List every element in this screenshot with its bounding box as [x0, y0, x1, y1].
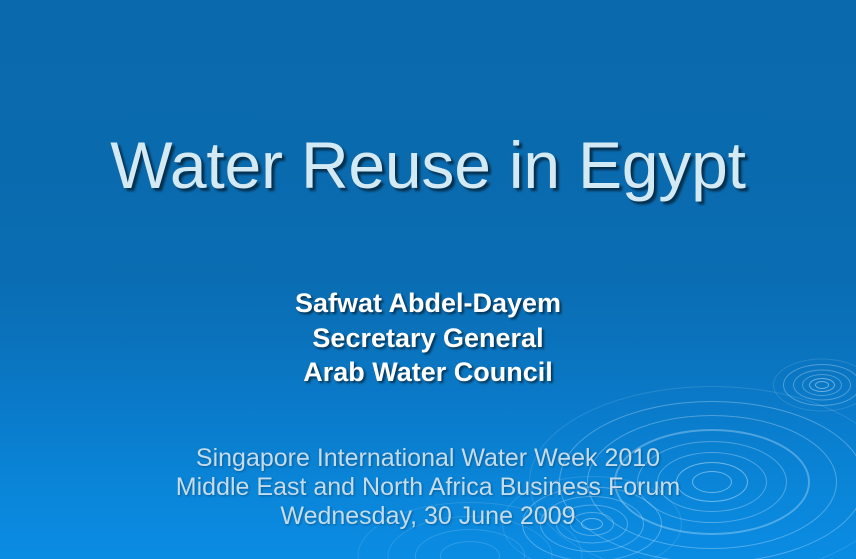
- slide-title: Water Reuse in Egypt: [0, 131, 856, 200]
- slide-content: Water Reuse in Egypt Safwat Abdel-Dayem …: [0, 0, 856, 559]
- presentation-title-slide: Water Reuse in Egypt Safwat Abdel-Dayem …: [0, 0, 856, 559]
- event-forum: Middle East and North Africa Business Fo…: [0, 473, 856, 502]
- event-block: Singapore International Water Week 2010 …: [0, 444, 856, 531]
- event-date: Wednesday, 30 June 2009: [0, 502, 856, 531]
- event-name: Singapore International Water Week 2010: [0, 444, 856, 473]
- author-name: Safwat Abdel-Dayem: [0, 286, 856, 321]
- author-organization: Arab Water Council: [0, 355, 856, 390]
- author-block: Safwat Abdel-Dayem Secretary General Ara…: [0, 286, 856, 390]
- author-role: Secretary General: [0, 321, 856, 356]
